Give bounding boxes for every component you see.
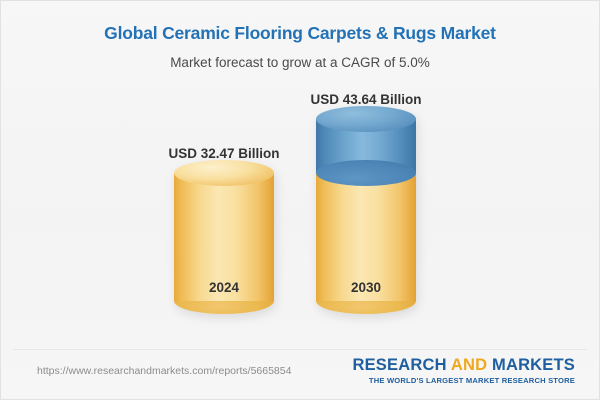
source-url[interactable]: https://www.researchandmarkets.com/repor…: [37, 365, 291, 377]
bar-segment-growth-2030: [316, 119, 416, 173]
research-and-markets-logo[interactable]: RESEARCH AND MARKETS THE WORLD'S LARGEST…: [352, 357, 575, 385]
cylinder-top-cap-2030: [316, 106, 416, 132]
bar-group-2030: USD 43.64 Billion 2030: [316, 119, 416, 301]
cylinder-2030[interactable]: [316, 119, 416, 301]
bar-group-2024: USD 32.47 Billion 2024: [174, 173, 274, 301]
chart-title: Global Ceramic Flooring Carpets & Rugs M…: [1, 23, 599, 44]
cylinder-top-cap-2024: [174, 160, 274, 186]
x-tick-label-2024: 2024: [209, 280, 239, 295]
chart-card: Global Ceramic Flooring Carpets & Rugs M…: [0, 0, 600, 400]
logo-wordmark: RESEARCH AND MARKETS: [352, 357, 575, 374]
value-label-2024: USD 32.47 Billion: [168, 146, 279, 161]
chart-subtitle: Market forecast to grow at a CAGR of 5.0…: [1, 55, 599, 70]
footer-divider: [13, 349, 587, 350]
cylinder-segment-junction-2030: [316, 160, 416, 186]
logo-word-and: AND: [451, 356, 487, 374]
logo-tagline: THE WORLD'S LARGEST MARKET RESEARCH STOR…: [352, 376, 575, 385]
logo-word-research: RESEARCH: [352, 356, 450, 374]
logo-word-markets: MARKETS: [487, 356, 575, 374]
x-tick-label-2030: 2030: [351, 280, 381, 295]
value-label-2030: USD 43.64 Billion: [310, 92, 421, 107]
plot-area: USD 32.47 Billion 2024 USD 43.64 Billion: [1, 91, 600, 341]
